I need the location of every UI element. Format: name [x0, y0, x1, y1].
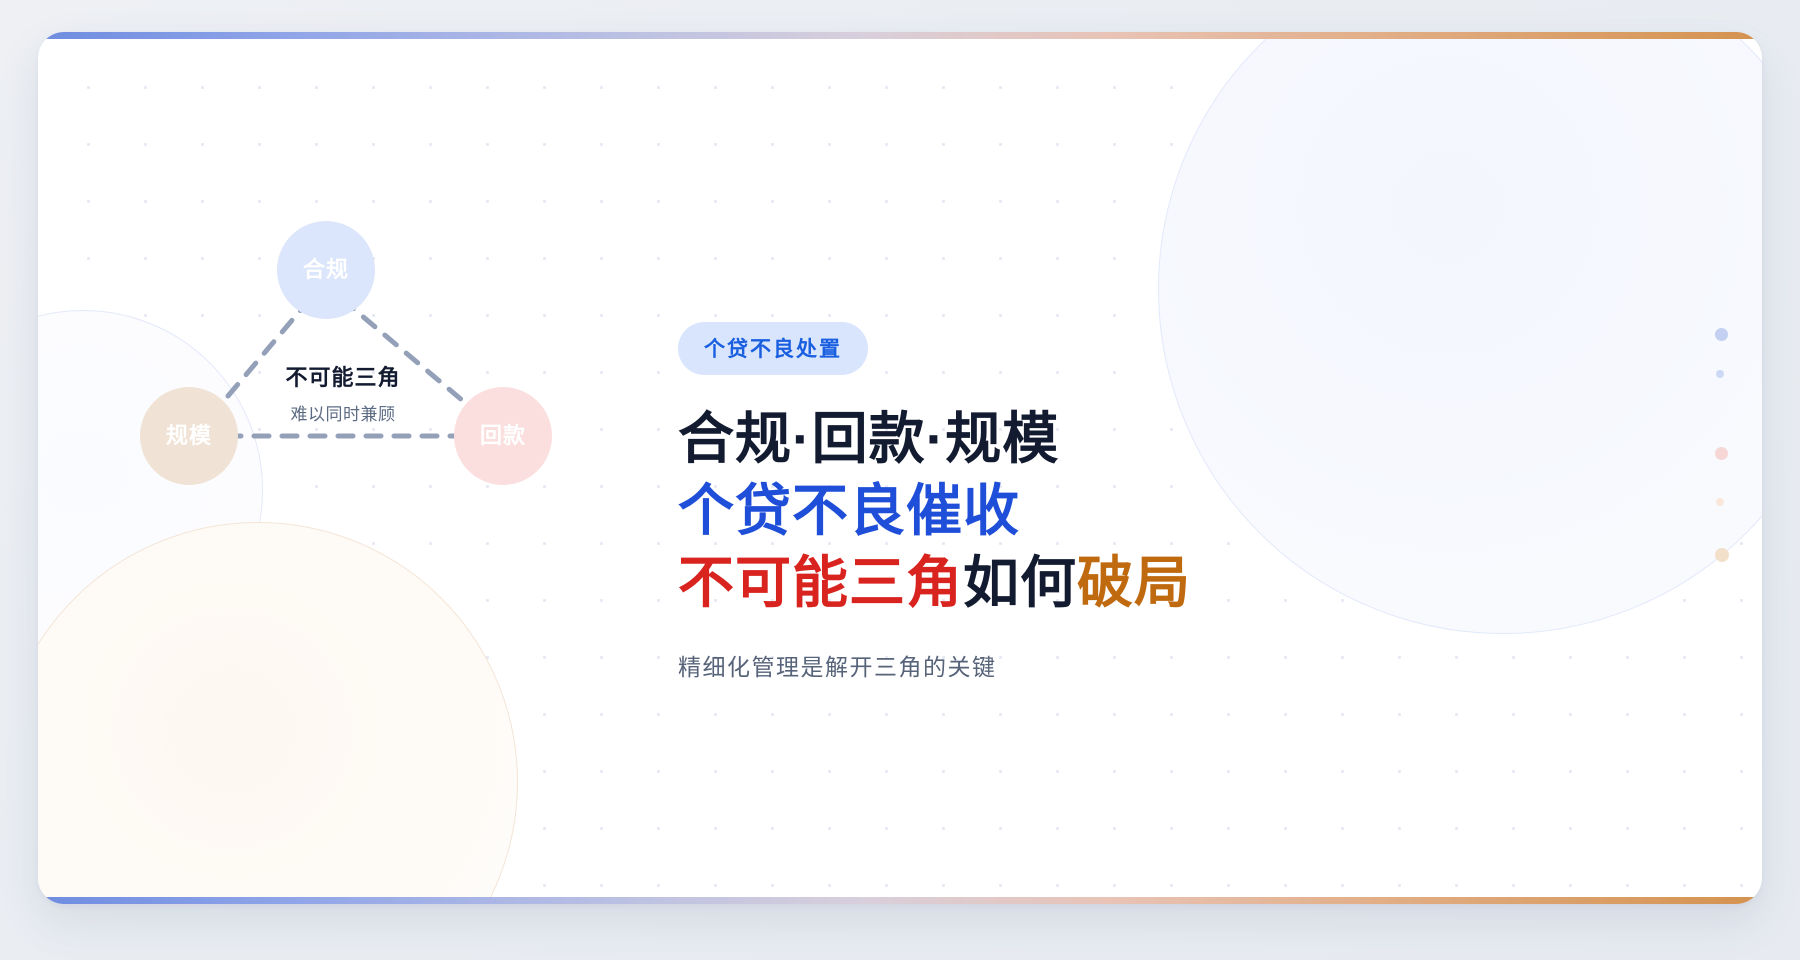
- triangle-center-caption: 不可能三角 难以同时兼顾: [218, 360, 468, 425]
- scale-node-label: 规模: [166, 425, 212, 447]
- headline-line-1: 合规·回款·规模: [678, 403, 1628, 475]
- dot-blue-small-decoration: [1716, 370, 1724, 378]
- triangle-node-scale[interactable]: 规模: [156, 403, 222, 469]
- headline-line-3-part-c: 破局: [1077, 551, 1191, 614]
- page-title: 合规·回款·规模 个贷不良催收 不可能三角如何破局: [678, 403, 1628, 620]
- headline-line-3-part-b: 如何: [963, 551, 1077, 614]
- bottom-gradient-rail: [38, 897, 1762, 904]
- triangle-center-subtitle: 难以同时兼顾: [218, 400, 468, 425]
- page-tagline: 精细化管理是解开三角的关键: [678, 648, 1628, 682]
- triangle-node-compliance[interactable]: 合规: [293, 237, 359, 303]
- top-gradient-rail: [38, 32, 1762, 39]
- dot-blue-large-decoration: [1715, 328, 1728, 341]
- dot-peach-small-decoration: [1716, 498, 1724, 506]
- headline-line-3-part-a: 不可能三角: [678, 551, 963, 614]
- compliance-node-label: 合规: [303, 259, 349, 281]
- topic-badge[interactable]: 个贷不良处置: [678, 322, 868, 375]
- triangle-center-title: 不可能三角: [218, 360, 468, 392]
- impossible-triangle-diagram: 合规 规模 回款 不可能三角 难以同时兼顾: [98, 222, 638, 552]
- recovery-node-label: 回款: [480, 425, 526, 447]
- dot-pink-decoration: [1715, 447, 1728, 460]
- headline-line-3: 不可能三角如何破局: [678, 547, 1628, 619]
- triangle-node-recovery[interactable]: 回款: [470, 403, 536, 469]
- hero-content: 个贷不良处置 合规·回款·规模 个贷不良催收 不可能三角如何破局 精细化管理是解…: [678, 322, 1628, 682]
- dot-orange-decoration: [1715, 548, 1729, 562]
- headline-line-2: 个贷不良催收: [678, 475, 1628, 547]
- bottom-left-circle-decoration: [38, 522, 518, 904]
- hero-card: 合规 规模 回款 不可能三角 难以同时兼顾 个贷不良处置 合规·回款·规模 个贷…: [38, 32, 1762, 904]
